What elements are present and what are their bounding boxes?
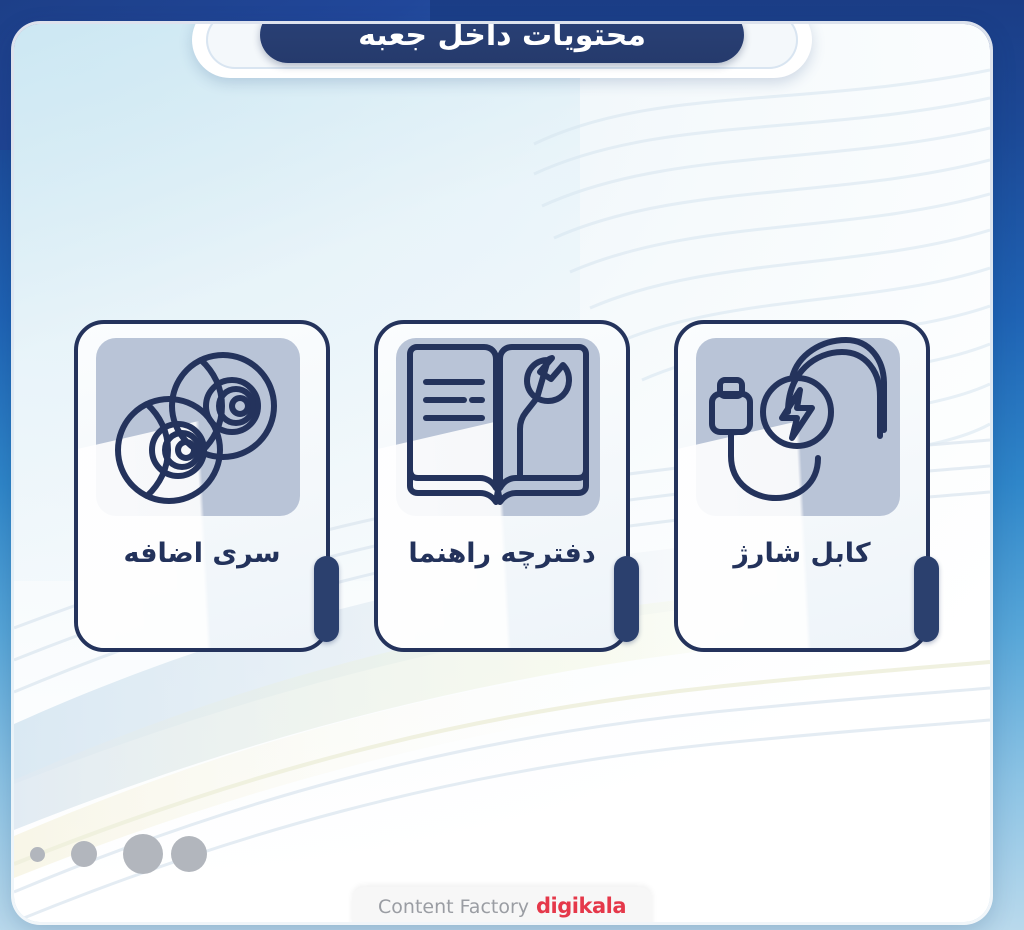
title-pill: محتویات داخل جعبه	[260, 24, 744, 63]
extra-eartips-icon	[96, 338, 300, 516]
card-label: دفترچه راهنما	[378, 538, 626, 569]
title-banner: محتویات داخل جعبه	[192, 24, 812, 78]
card-extra-eartips[interactable]: سری اضافه	[74, 320, 330, 652]
card-accent-tab	[914, 556, 939, 642]
watermark-brand: digikala	[536, 894, 626, 918]
page-title: محتویات داخل جعبه	[358, 24, 646, 53]
slide-stage: محتویات داخل جعبه	[0, 0, 1024, 930]
carousel-pagination[interactable]	[30, 834, 207, 874]
card-accent-tab	[314, 556, 339, 642]
content-panel: محتویات داخل جعبه	[14, 24, 990, 922]
pagination-dot[interactable]	[30, 847, 45, 862]
pagination-dot[interactable]	[123, 834, 163, 874]
watermark-suffix: Content Factory	[378, 896, 529, 918]
feature-card-row: کابل شارژ	[14, 320, 990, 652]
card-manual-booklet[interactable]: دفترچه راهنما	[374, 320, 630, 652]
card-accent-tab	[614, 556, 639, 642]
manual-booklet-icon	[396, 338, 600, 516]
card-label: سری اضافه	[78, 538, 326, 569]
pagination-dot[interactable]	[71, 841, 97, 867]
card-label: کابل شارژ	[678, 538, 926, 569]
pagination-dot[interactable]	[171, 836, 207, 872]
charging-cable-icon	[696, 338, 900, 516]
card-charging-cable[interactable]: کابل شارژ	[674, 320, 930, 652]
digikala-watermark: digikala Content Factory	[352, 887, 652, 922]
